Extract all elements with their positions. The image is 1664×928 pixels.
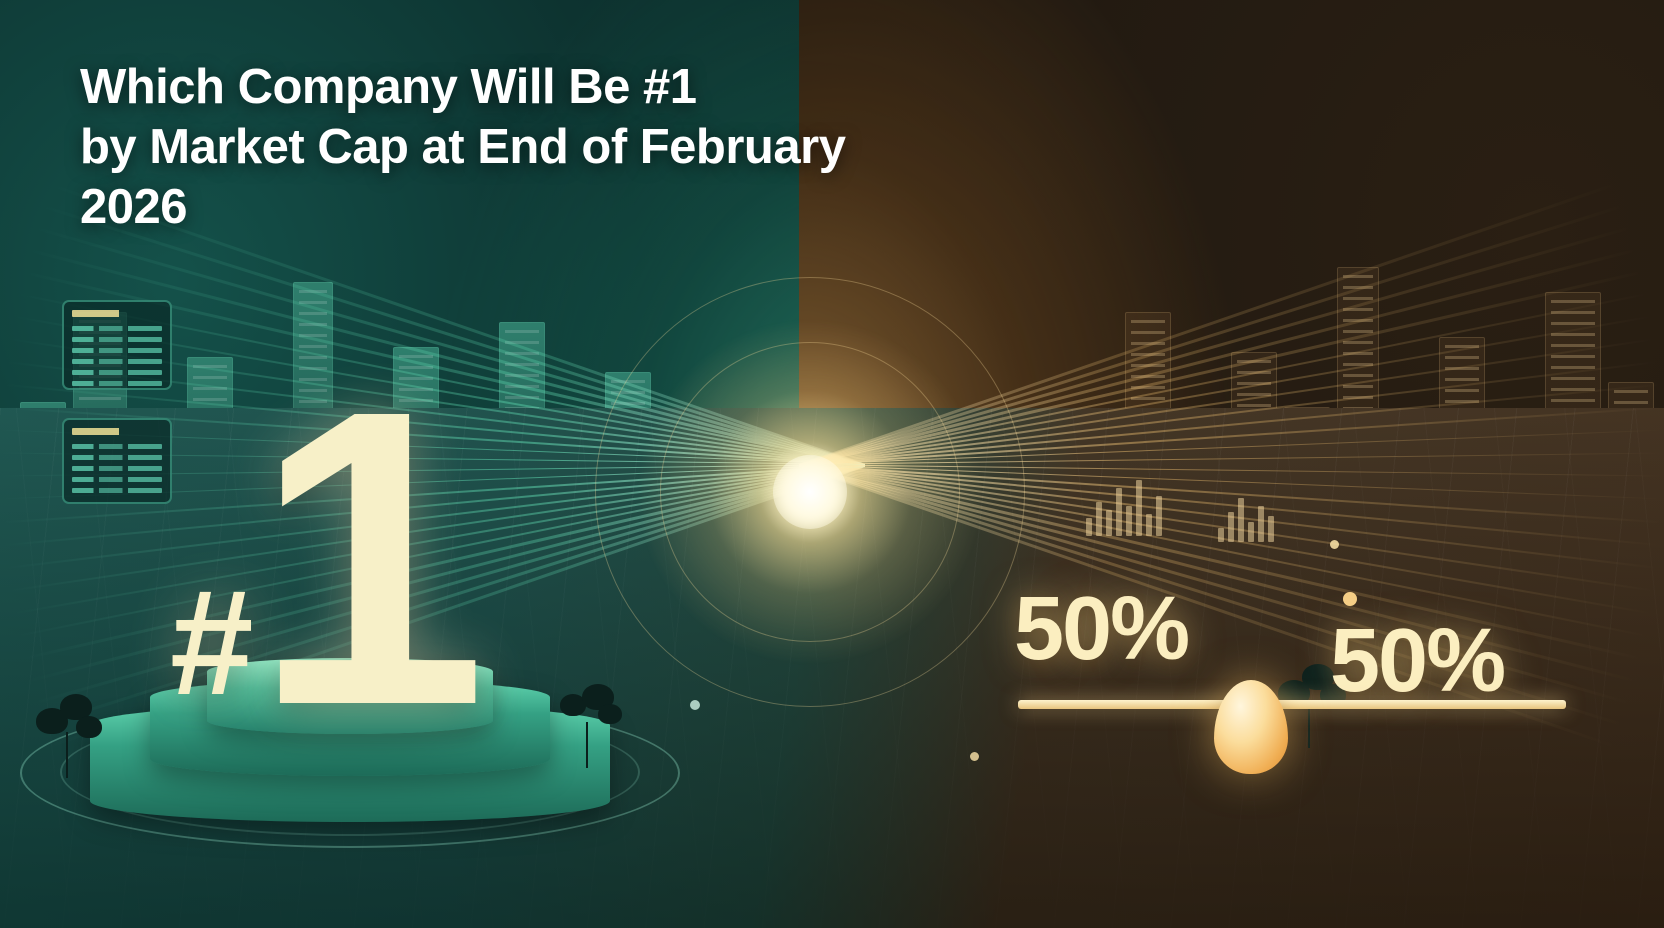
hash-symbol: #: [170, 584, 249, 701]
glow-dot-left: [690, 700, 700, 710]
page-title: Which Company Will Be #1 by Market Cap a…: [80, 58, 860, 237]
plant-silhouette-left: [36, 694, 106, 778]
percent-label-right: 50%: [1330, 610, 1504, 713]
percent-label-left: 50%: [1014, 578, 1188, 681]
infographic-canvas: # 1 50% 50% Which Company Will Be #1 by …: [0, 0, 1664, 928]
glow-dot-center: [970, 752, 979, 761]
data-panel-top: [62, 300, 172, 390]
title-line-3: 2026: [80, 180, 187, 234]
rank-number: 1: [253, 395, 483, 723]
light-burst-core: [773, 455, 847, 529]
glow-dot-right: [1330, 540, 1339, 549]
data-panel-bottom: [62, 418, 172, 504]
glow-dot-large: [1343, 592, 1357, 606]
mini-bar-chart-left: [1086, 476, 1162, 536]
title-line-1: Which Company Will Be #1: [80, 60, 696, 114]
balance-beam-icon: [1018, 700, 1566, 709]
mini-bar-chart-right: [1218, 492, 1274, 542]
rank-one-hero: # 1: [170, 395, 483, 723]
plant-silhouette-center: [556, 684, 626, 768]
title-line-2: by Market Cap at End of February: [80, 120, 845, 174]
